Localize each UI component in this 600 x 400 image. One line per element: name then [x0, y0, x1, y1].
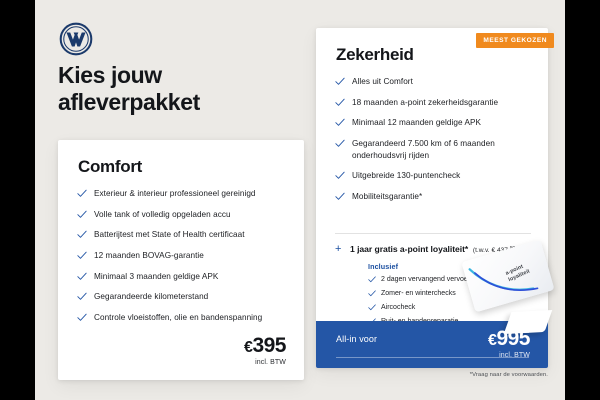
- check-icon: [368, 304, 376, 311]
- comfort-price-note: incl. BTW: [244, 359, 286, 366]
- zekerheid-price: €995: [488, 328, 530, 349]
- list-item: Minimaal 12 maanden geldige APK: [335, 117, 533, 129]
- feature-label: Alles uit Comfort: [352, 77, 413, 86]
- check-icon: [77, 230, 87, 239]
- feature-label: Uitgebreide 130-puntencheck: [352, 171, 460, 180]
- check-icon: [77, 189, 87, 198]
- list-item: Volle tank of volledig opgeladen accu: [77, 209, 289, 221]
- feature-label: 2 dagen vervangend vervoer: [381, 276, 470, 283]
- check-icon: [335, 139, 345, 148]
- feature-label: Batterijtest met State of Health certifi…: [94, 230, 245, 239]
- list-item: Minimaal 3 maanden geldige APK: [77, 271, 289, 283]
- package-card-zekerheid[interactable]: MEEST GEKOZEN Zekerheid Alles uit Comfor…: [316, 28, 548, 368]
- inclusief-label: Inclusief: [368, 262, 398, 271]
- list-item: 12 maanden BOVAG-garantie: [77, 250, 289, 262]
- comfort-price-block: €395 incl. BTW: [244, 335, 286, 366]
- check-icon: [77, 210, 87, 219]
- feature-label: Exterieur & interieur professioneel gere…: [94, 189, 256, 198]
- check-icon: [335, 98, 345, 107]
- comfort-title: Comfort: [78, 157, 142, 177]
- list-item: Exterieur & interieur professioneel gere…: [77, 188, 289, 200]
- check-icon: [335, 77, 345, 86]
- list-item: Alles uit Comfort: [335, 76, 533, 88]
- check-icon: [77, 251, 87, 260]
- list-item: Gegarandeerd 7.500 km of 6 maanden onder…: [335, 138, 533, 161]
- feature-label: Zomer- en winterchecks: [381, 290, 456, 297]
- check-icon: [335, 118, 345, 127]
- feature-label: Gegarandeerd 7.500 km of 6 maanden onder…: [352, 139, 495, 160]
- plus-icon: +: [335, 244, 341, 255]
- check-icon: [335, 171, 345, 180]
- list-item: Batterijtest met State of Health certifi…: [77, 229, 289, 241]
- volkswagen-logo-icon: [59, 22, 93, 56]
- promo-banner: Kies jouwafleverpakket Comfort Exterieur…: [35, 0, 565, 400]
- allin-label: All-in voor: [336, 334, 377, 344]
- feature-label: 18 maanden a-point zekerheidsgarantie: [352, 98, 498, 107]
- price-amount: 995: [496, 327, 530, 350]
- check-icon: [368, 276, 376, 283]
- feature-label: Aircocheck: [381, 304, 415, 311]
- feature-label: Gegarandeerde kilometerstand: [94, 292, 208, 301]
- package-card-comfort[interactable]: Comfort Exterieur & interieur profession…: [58, 140, 304, 380]
- check-icon: [77, 313, 87, 322]
- allin-underline: [336, 357, 529, 358]
- feature-label: Volle tank of volledig opgeladen accu: [94, 210, 231, 219]
- zekerheid-price-block: €995 incl. BTW: [488, 328, 530, 359]
- list-item: Uitgebreide 130-puntencheck: [335, 170, 533, 182]
- check-icon: [368, 290, 376, 297]
- feature-label: 12 maanden BOVAG-garantie: [94, 251, 204, 260]
- screenshot-stage: Kies jouwafleverpakket Comfort Exterieur…: [0, 0, 600, 400]
- allin-price-bar: All-in voor €995 incl. BTW: [316, 321, 548, 368]
- check-icon: [335, 192, 345, 201]
- loyalty-label: 1 jaar gratis a-point loyaliteit*: [350, 244, 468, 254]
- headline-line-2: afleverpakket: [58, 89, 200, 115]
- headline-line-1: Kies jouw: [58, 62, 162, 88]
- list-item: Controle vloeistoffen, olie en bandenspa…: [77, 312, 289, 324]
- feature-label: Controle vloeistoffen, olie en bandenspa…: [94, 313, 262, 322]
- footnote: *Vraag naar de voorwaarden.: [316, 372, 548, 378]
- list-item: Mobiliteitsgarantie*: [335, 191, 533, 203]
- feature-label: Minimaal 3 maanden geldige APK: [94, 272, 218, 281]
- feature-label: Mobiliteitsgarantie*: [352, 192, 422, 201]
- list-item: Gegarandeerde kilometerstand: [77, 291, 289, 303]
- status-badge: MEEST GEKOZEN: [476, 33, 554, 48]
- price-amount: 395: [252, 334, 286, 357]
- check-icon: [77, 272, 87, 281]
- feature-label: Minimaal 12 maanden geldige APK: [352, 118, 481, 127]
- check-icon: [77, 292, 87, 301]
- zekerheid-feature-list: Alles uit Comfort 18 maanden a-point zek…: [335, 76, 533, 211]
- list-item: 18 maanden a-point zekerheidsgarantie: [335, 97, 533, 109]
- section-divider: [335, 233, 531, 234]
- zekerheid-title: Zekerheid: [336, 45, 414, 65]
- page-title: Kies jouwafleverpakket: [58, 62, 288, 116]
- comfort-price: €395: [244, 335, 286, 356]
- comfort-feature-list: Exterieur & interieur professioneel gere…: [77, 188, 289, 332]
